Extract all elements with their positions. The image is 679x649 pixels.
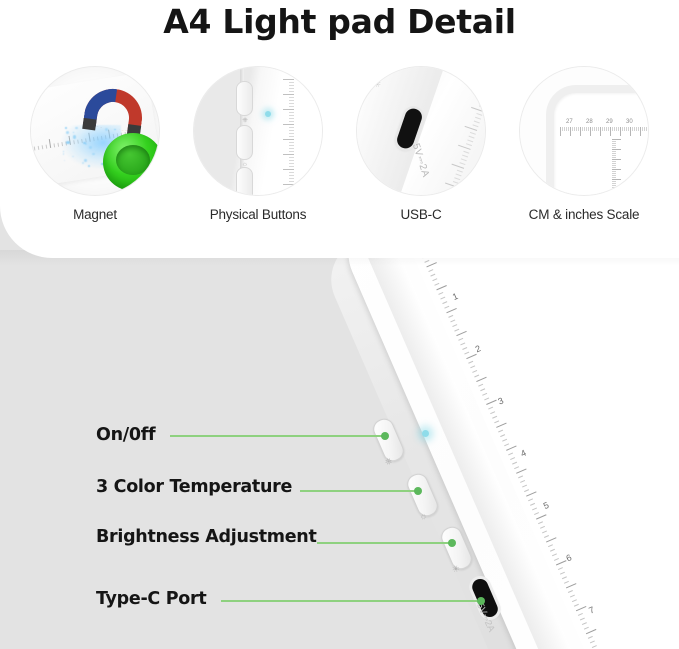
feature-physical-buttons: ⎈ ☼ Physical Buttons [193, 66, 323, 231]
magnet-spark [92, 153, 95, 156]
magnet-spark [75, 127, 77, 129]
magnet-spark [89, 146, 92, 149]
callout-dot-brightness [448, 539, 456, 547]
magnet-spark [84, 159, 86, 161]
magnet-tip-left [82, 118, 96, 131]
pad-ruler-v-number: 5 [542, 500, 551, 511]
power-led-indicator [422, 430, 429, 437]
scale-horizontal-ruler [560, 127, 649, 137]
thumb-power-icon: ⎈ [241, 117, 249, 125]
feature-magnet: Magnet [30, 66, 160, 231]
usbc-circle-icon: ☀ 5V⎓2A [356, 66, 486, 196]
scale-ruler-number: 27 [566, 119, 573, 125]
callout-line-color-temperature [300, 490, 419, 492]
callout-label-color-temperature: 3 Color Temperature [96, 477, 292, 497]
magnet-spark [88, 165, 90, 167]
feature-label-physical-buttons: Physical Buttons [210, 207, 307, 222]
magnet-spark [73, 135, 76, 138]
magnet-spark [63, 153, 64, 154]
scale-vertical-ruler [612, 139, 622, 196]
callout-label-type-c-port: Type-C Port [96, 589, 206, 609]
pad-ruler-v-number: 3 [496, 395, 505, 406]
scale-ruler-number: 30 [626, 119, 633, 125]
callout-dot-color-temperature [414, 487, 422, 495]
pad-ruler-v-number: 4 [519, 448, 528, 459]
magnet-spark [64, 160, 65, 161]
thumb-power-button [236, 81, 253, 116]
callout-dot-on-off [381, 432, 389, 440]
feature-usb-c: ☀ 5V⎓2A USB-C [356, 66, 486, 231]
callout-dot-type-c-port [477, 597, 485, 605]
callout-line-type-c-port [221, 600, 481, 602]
magnet-circle-icon [30, 66, 160, 196]
green-suction-disc [103, 133, 160, 191]
scale-circle-icon: 27282930 [519, 66, 649, 196]
feature-cm-inches-scale: 27282930 CM & inches Scale [519, 66, 649, 231]
buttons-circle-icon: ⎈ ☼ [193, 66, 323, 196]
buttons-pad-body [194, 67, 322, 195]
thumb-vertical-ruler [282, 79, 294, 187]
feature-label-usb-c: USB-C [400, 207, 441, 222]
callout-label-on-off: On/0ff [96, 425, 155, 445]
magnet-spark [68, 141, 71, 144]
magnet-spark [73, 132, 74, 133]
pad-ruler-v-number: 6 [565, 552, 574, 563]
magnet-spark [82, 162, 84, 164]
callout-line-brightness [317, 542, 453, 544]
feature-list: Magnet ⎈ ☼ Physical Buttons ☀ [0, 66, 679, 231]
thumb-led-indicator [265, 111, 271, 117]
feature-label-magnet: Magnet [73, 207, 117, 222]
scale-ruler-number: 29 [606, 119, 613, 125]
magnet-spark [65, 127, 67, 129]
magnet-spark [66, 131, 69, 134]
callout-line-on-off [170, 435, 385, 437]
horseshoe-magnet-icon [82, 85, 146, 137]
pad-ruler-v-number: 2 [474, 343, 483, 354]
thumb-color-temp-button [236, 125, 253, 160]
pad-ruler-v-number: 7 [587, 605, 596, 616]
magnet-spark [72, 156, 74, 158]
scale-ruler-number: 28 [586, 119, 593, 125]
pad-ruler-v-number: 1 [451, 291, 460, 302]
feature-label-cm-inches-scale: CM & inches Scale [529, 207, 640, 222]
thumb-brightness-button [236, 167, 253, 196]
callout-label-brightness: Brightness Adjustment [96, 527, 317, 547]
magnet-spark [63, 151, 64, 152]
page-title: A4 Light pad Detail [0, 2, 679, 41]
magnet-spark [85, 143, 87, 145]
product-detail-image: 0123456789 01234567 cm ⎈ ☼ ☀ 5V⎓2A On/0f… [0, 0, 679, 649]
scale-pad-inner-corner [554, 93, 649, 196]
